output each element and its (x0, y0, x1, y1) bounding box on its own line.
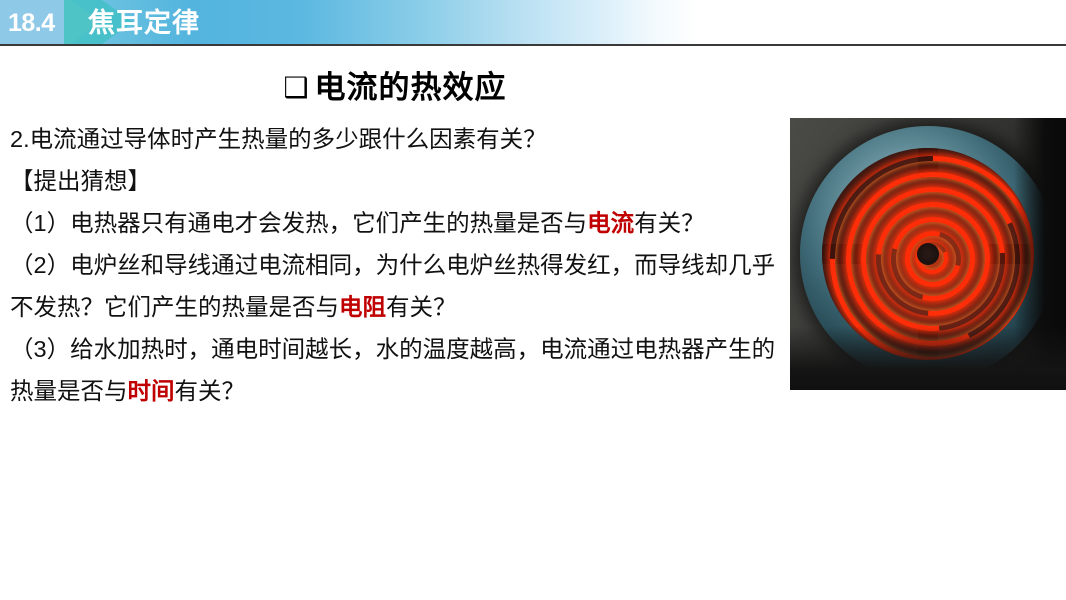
guess-3-keyword: 时间 (128, 378, 175, 404)
slide-title-text: 电流的热效应 (315, 70, 507, 105)
section-label-text: 【提出猜想】 (10, 168, 151, 194)
slide-header-banner: 18.4 焦耳定律 (0, 0, 1066, 44)
coil-center-hub (917, 243, 939, 265)
guess-2-label: （2） (10, 252, 70, 278)
guess-1-label: （1） (10, 210, 70, 236)
guess-item-1: （1）电热器只有通电才会发热，它们产生的热量是否与电流有关？ (10, 202, 788, 244)
guess-3-text-before: 给水加热时，通电时间越长，水的温度越高，电流通过电热器产生的热量是否与 (10, 336, 775, 404)
slide-title: ❑电流的热效应 (0, 62, 790, 107)
slide-body: 2.电流通过导体时产生热量的多少跟什么因素有关？ 【提出猜想】 （1）电热器只有… (10, 118, 788, 412)
guess-3-text-after: 有关？ (175, 378, 246, 404)
guess-1-keyword: 电流 (587, 210, 634, 236)
guess-item-2: （2）电炉丝和导线通过电流相同，为什么电炉丝热得发红，而导线却几乎不发热？它们产… (10, 244, 788, 328)
photo-bottom-shadow (790, 326, 1066, 390)
guess-1-text-after: 有关？ (634, 210, 705, 236)
guess-1-text-before: 电热器只有通电才会发热，它们产生的热量是否与 (70, 210, 587, 236)
body-section-label-line: 【提出猜想】 (10, 160, 788, 202)
question-text: 2.电流通过导体时产生热量的多少跟什么因素有关？ (10, 126, 547, 152)
header-section-title: 焦耳定律 (88, 3, 200, 43)
body-question-line: 2.电流通过导体时产生热量的多少跟什么因素有关？ (10, 118, 788, 160)
guess-3-label: （3） (10, 336, 70, 362)
guess-2-text-after: 有关？ (386, 294, 457, 320)
header-divider-rule (0, 44, 1066, 46)
hollow-square-bullet-icon: ❑ (283, 74, 309, 102)
guess-2-keyword: 电阻 (339, 294, 386, 320)
electric-stove-coil-photo (790, 118, 1066, 390)
guess-item-3: （3）给水加热时，通电时间越长，水的温度越高，电流通过电热器产生的热量是否与时间… (10, 328, 788, 412)
header-section-number: 18.4 (8, 4, 78, 42)
